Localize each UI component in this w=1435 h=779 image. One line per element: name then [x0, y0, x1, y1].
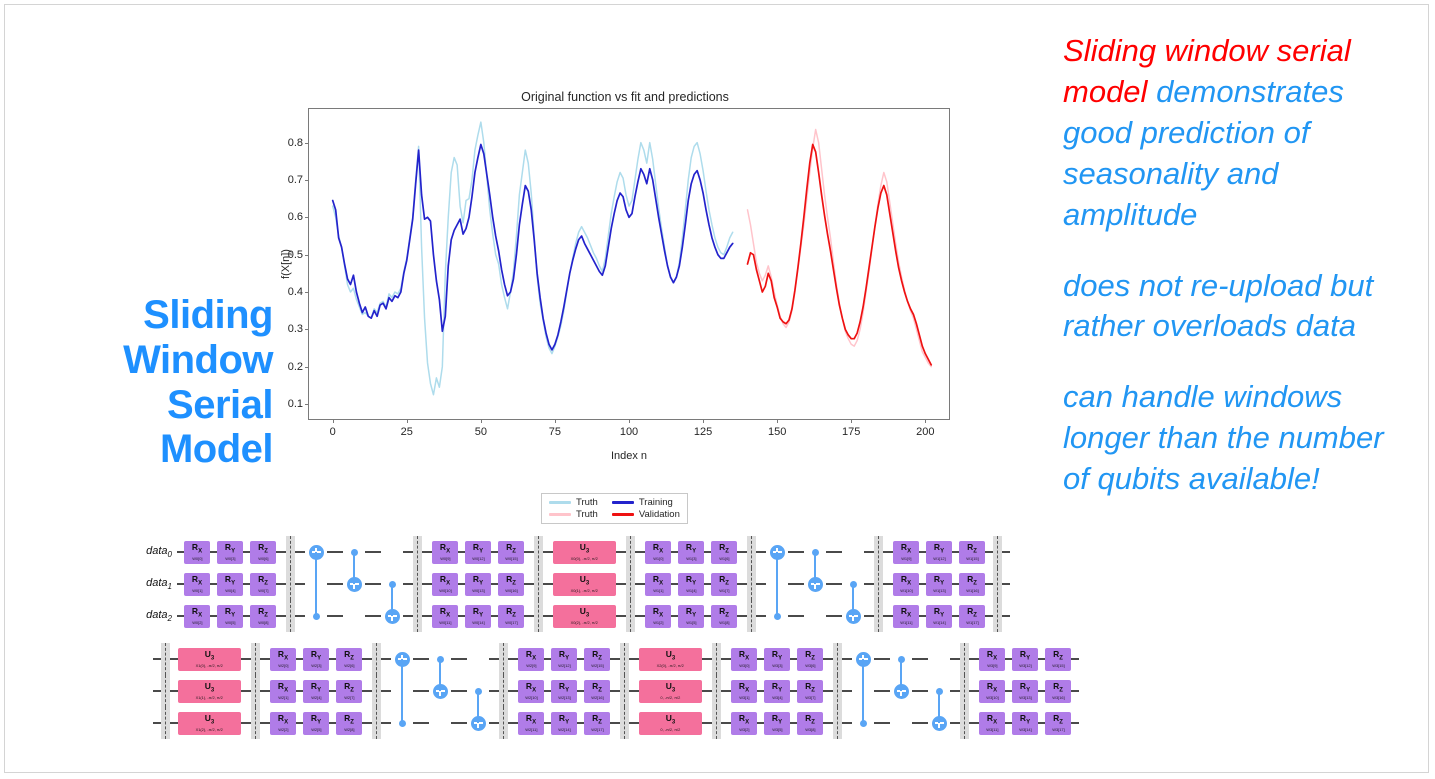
gate-rz[interactable]: RZW2[7] [336, 680, 362, 703]
wire-segment [823, 658, 833, 660]
cnot-link [315, 568, 317, 600]
wire-segment [864, 615, 874, 617]
gate-param: W1[13] [933, 589, 945, 593]
wire-segment [458, 615, 465, 617]
wire-segment [362, 658, 372, 660]
quantum-circuit-row-1: data0RXW0[0]RYW0[3]RZW0[6]RXW0[9]RYW0[12… [177, 536, 1010, 632]
gate-rx[interactable]: RXW2[11] [518, 712, 544, 735]
gate-label: RY [1020, 650, 1030, 662]
gate-rz[interactable]: RZW2[17] [584, 712, 610, 735]
gate-rx[interactable]: RXW2[10] [518, 680, 544, 703]
gate-param: W1[16] [966, 589, 978, 593]
gate-label: RY [473, 543, 483, 555]
wire-segment [381, 658, 391, 660]
gate-label: RX [526, 714, 536, 726]
gate-param: W1[11] [900, 621, 912, 625]
gate-rz[interactable]: RZW1[6] [711, 541, 737, 564]
chart: Original function vs fit and predictions… [255, 90, 995, 490]
gate-label: RX [739, 682, 749, 694]
wire-segment [757, 722, 764, 724]
gate-label: RX [526, 682, 536, 694]
gate-rz[interactable]: RZW3[16] [1045, 680, 1071, 703]
wire-segment [635, 615, 645, 617]
gate-label: RX [739, 714, 749, 726]
cnot-link [938, 707, 940, 723]
wire-segment [1002, 615, 1010, 617]
gate-rx[interactable]: RXW0[10] [432, 573, 458, 596]
gate-rx[interactable]: RXW1[0] [645, 541, 671, 564]
barrier [534, 568, 543, 600]
wire-segment [508, 658, 518, 660]
gate-param: W2[17] [591, 728, 603, 732]
gate-rz[interactable]: RZW2[15] [584, 648, 610, 671]
wire-segment [883, 615, 893, 617]
gate-label: RZ [592, 714, 602, 726]
gate-label: RY [934, 575, 944, 587]
barrier [993, 536, 1002, 568]
barrier [833, 707, 842, 739]
gate-rz[interactable]: RZW1[16] [959, 573, 985, 596]
cnot-column [391, 675, 413, 707]
gate-rx[interactable]: RXW1[2] [645, 605, 671, 628]
gate-label: RZ [506, 607, 516, 619]
wire-segment [610, 658, 620, 660]
gate-rz[interactable]: RZW0[7] [250, 573, 276, 596]
wire-segment [296, 658, 303, 660]
title-line-3: Serial [23, 383, 273, 428]
gate-param: W3[5] [772, 728, 782, 732]
gate-label: RY [559, 650, 569, 662]
gate-param: W0[9] [440, 557, 450, 561]
legend-item: Training [612, 497, 680, 508]
cnot-link [900, 675, 902, 691]
gate-label: RY [772, 714, 782, 726]
wire-segment [969, 658, 979, 660]
gate-rx[interactable]: RXW2[1] [270, 680, 296, 703]
gate-rz[interactable]: RZW0[6] [250, 541, 276, 564]
barrier [712, 675, 721, 707]
gate-param: W2[6] [344, 664, 354, 668]
plot-area: f(X[n]) 0.10.20.30.40.50.60.70.802550751… [308, 108, 950, 420]
chart-legend: TruthTrainingTruthValidation [541, 493, 688, 524]
barrier [712, 643, 721, 675]
gate-label: RY [686, 543, 696, 555]
gate-ry[interactable]: RYW2[13] [551, 680, 577, 703]
gate-label: RX [192, 575, 202, 587]
wire-segment [524, 615, 534, 617]
gate-param: 0, -π/2, π/2 [661, 728, 681, 732]
gate-rz[interactable]: RZW2[6] [336, 648, 362, 671]
y-tick-label: 0.8 [288, 137, 303, 149]
cnot-link [776, 600, 778, 616]
wire-label: data1 [146, 577, 172, 591]
wire-segment [544, 722, 551, 724]
gate-rz[interactable]: RZW3[17] [1045, 712, 1071, 735]
wire-segment [544, 690, 551, 692]
cnot-column [343, 568, 365, 600]
wire-segment [543, 615, 553, 617]
wire-segment [296, 690, 303, 692]
gate-label: U3 [666, 650, 675, 662]
gate-label: RY [559, 714, 569, 726]
wire-segment [702, 722, 712, 724]
wire-segment [1005, 658, 1012, 660]
gate-param: W0[1] [192, 589, 202, 593]
gate-param: W2[4] [311, 696, 321, 700]
gate-param: W1[10] [900, 589, 912, 593]
cnot-column [391, 643, 413, 675]
wire-segment [491, 615, 498, 617]
barrier [874, 568, 883, 600]
wire-segment [842, 690, 852, 692]
gate-rz[interactable]: RZW0[15] [498, 541, 524, 564]
y-tick-label: 0.2 [288, 361, 303, 373]
wire-segment [524, 583, 534, 585]
wire-segment [170, 658, 178, 660]
gate-rz[interactable]: RZW3[8] [797, 712, 823, 735]
gate-ry[interactable]: RYW0[14] [465, 605, 491, 628]
x-tick-mark [629, 419, 630, 423]
page-title: Sliding Window Serial Model [23, 293, 273, 472]
cnot-link [391, 600, 393, 616]
wire-segment [451, 722, 467, 724]
barrier [534, 536, 543, 568]
gate-u3[interactable]: U3X1(1), -π/2, π/2 [178, 680, 241, 703]
gate-rz[interactable]: RZW2[8] [336, 712, 362, 735]
barrier [747, 600, 756, 632]
gate-label: RY [311, 714, 321, 726]
gate-param: W0[4] [225, 589, 235, 593]
y-tick-mark [305, 217, 309, 218]
gate-rz[interactable]: RZW3[6] [797, 648, 823, 671]
gate-ry[interactable]: RYW3[13] [1012, 680, 1038, 703]
gate-rx[interactable]: RXW0[2] [184, 605, 210, 628]
x-tick-mark [407, 419, 408, 423]
gate-rx[interactable]: RXW0[1] [184, 573, 210, 596]
wire-segment [153, 722, 161, 724]
gate-param: X2(0), -π/2, π/2 [657, 664, 684, 668]
gate-rx[interactable]: RXW1[10] [893, 573, 919, 596]
gate-rx[interactable]: RXW2[0] [270, 648, 296, 671]
wire-segment [241, 722, 251, 724]
gate-label: RZ [967, 543, 977, 555]
barrier [960, 643, 969, 675]
barrier [960, 675, 969, 707]
gate-ry[interactable]: RYW1[14] [926, 605, 952, 628]
gate-param: W3[0] [739, 664, 749, 668]
gate-ry[interactable]: RYW0[4] [217, 573, 243, 596]
cnot-column [804, 536, 826, 568]
wire-segment [912, 690, 928, 692]
title-line-1: Sliding [23, 293, 273, 338]
x-tick-label: 100 [620, 426, 638, 438]
gate-label: RY [311, 650, 321, 662]
wire-segment [243, 615, 250, 617]
cnot-link [862, 659, 864, 675]
wire-segment [702, 690, 712, 692]
annotation-paragraph-2: does not re-upload but rather overloads … [1063, 266, 1403, 348]
gate-ry[interactable]: RYW3[4] [764, 680, 790, 703]
wire-segment [788, 615, 804, 617]
legend-item: Truth [549, 509, 598, 520]
gate-rz[interactable]: RZW1[8] [711, 605, 737, 628]
gate-rx[interactable]: RXW2[9] [518, 648, 544, 671]
x-tick-mark [925, 419, 926, 423]
wire-segment [985, 583, 993, 585]
gate-param: W2[11] [525, 728, 537, 732]
wire-segment [790, 690, 797, 692]
wire-segment [1071, 722, 1079, 724]
cnot-column [890, 675, 912, 707]
gate-ry[interactable]: RYW0[3] [217, 541, 243, 564]
y-tick-label: 0.7 [288, 174, 303, 186]
gate-rx[interactable]: RXW0[11] [432, 605, 458, 628]
wire-segment [721, 690, 731, 692]
wire-segment [635, 551, 645, 553]
barrier [620, 675, 629, 707]
wire-segment [276, 583, 286, 585]
gate-rx[interactable]: RXW1[1] [645, 573, 671, 596]
gate-param: W0[2] [192, 621, 202, 625]
gate-rz[interactable]: RZW0[16] [498, 573, 524, 596]
gate-label: RX [987, 650, 997, 662]
cnot-column [381, 536, 403, 568]
legend-swatch [549, 513, 571, 515]
wire-segment [950, 722, 960, 724]
gate-label: RZ [258, 543, 268, 555]
wire-segment [210, 615, 217, 617]
gate-param: W0[7] [258, 589, 268, 593]
gate-label: RX [278, 714, 288, 726]
legend-label: Truth [576, 509, 598, 520]
gate-label: RX [278, 682, 288, 694]
gate-param: W3[14] [1019, 728, 1031, 732]
gate-label: U3 [205, 650, 214, 662]
gate-label: RY [473, 607, 483, 619]
gate-rx[interactable]: RXW3[1] [731, 680, 757, 703]
cnot-column [928, 675, 950, 707]
barrier [161, 707, 170, 739]
wire-segment [177, 615, 184, 617]
gate-label: RZ [719, 575, 729, 587]
gate-rx[interactable]: RXW3[9] [979, 648, 1005, 671]
gate-rx[interactable]: RXW1[9] [893, 541, 919, 564]
gate-label: RZ [506, 543, 516, 555]
wire-segment [874, 722, 890, 724]
gate-ry[interactable]: RYW1[3] [678, 541, 704, 564]
gate-u3[interactable]: U3X2(0), -π/2, π/2 [639, 648, 702, 671]
wire-segment [864, 583, 874, 585]
gate-param: W1[5] [686, 621, 696, 625]
gate-param: W3[10] [986, 696, 998, 700]
gate-rz[interactable]: RZW2[16] [584, 680, 610, 703]
gate-label: RY [1020, 714, 1030, 726]
gate-param: W3[8] [805, 728, 815, 732]
gate-ry[interactable]: RYW3[14] [1012, 712, 1038, 735]
gate-label: RX [653, 575, 663, 587]
wire-segment [823, 722, 833, 724]
gate-u3[interactable]: U3X1(2), -π/2, π/2 [178, 712, 241, 735]
wire-segment [826, 551, 842, 553]
legend-swatch [612, 513, 634, 515]
wire-segment [327, 583, 343, 585]
gate-ry[interactable]: RYW0[12] [465, 541, 491, 564]
gate-rz[interactable]: RZW0[8] [250, 605, 276, 628]
gate-ry[interactable]: RYW1[5] [678, 605, 704, 628]
wire-segment [671, 615, 678, 617]
wire-segment [790, 722, 797, 724]
y-tick-label: 0.6 [288, 211, 303, 223]
qubit-wire: data0RXW0[0]RYW0[3]RZW0[6]RXW0[9]RYW0[12… [177, 536, 1010, 568]
gate-ry[interactable]: RYW3[3] [764, 648, 790, 671]
barrier [372, 643, 381, 675]
cnot-column [467, 643, 489, 675]
wire-segment [952, 615, 959, 617]
wire-segment [671, 551, 678, 553]
gate-ry[interactable]: RYW1[12] [926, 541, 952, 564]
wire-segment [629, 658, 639, 660]
gate-ry[interactable]: RYW2[5] [303, 712, 329, 735]
gate-param: W1[1] [653, 589, 663, 593]
barrier [833, 643, 842, 675]
barrier [874, 536, 883, 568]
title-line-2: Window [23, 338, 273, 383]
gate-rx[interactable]: RXW1[11] [893, 605, 919, 628]
qubit-wire: U3X1(2), -π/2, π/2RXW2[2]RYW2[5]RZW2[8]R… [153, 707, 1079, 739]
gate-rz[interactable]: RZW0[17] [498, 605, 524, 628]
x-tick-label: 150 [768, 426, 786, 438]
gate-label: RZ [805, 714, 815, 726]
cnot-column [842, 600, 864, 632]
barrier [161, 643, 170, 675]
wire-segment [451, 690, 467, 692]
gate-u3[interactable]: U3X1(0), -π/2, π/2 [178, 648, 241, 671]
wire-segment [327, 615, 343, 617]
wire-segment [381, 722, 391, 724]
gate-label: RY [772, 682, 782, 694]
gate-rx[interactable]: RXW3[0] [731, 648, 757, 671]
gate-rz[interactable]: RZW3[7] [797, 680, 823, 703]
gate-rz[interactable]: RZW1[15] [959, 541, 985, 564]
legend-label: Truth [576, 497, 598, 508]
gate-ry[interactable]: RYW0[13] [465, 573, 491, 596]
gate-rz[interactable]: RZW1[17] [959, 605, 985, 628]
y-tick-mark [305, 404, 309, 405]
gate-ry[interactable]: RYW2[14] [551, 712, 577, 735]
wire-segment [422, 583, 432, 585]
gate-label: RZ [592, 650, 602, 662]
gate-param: W2[1] [278, 696, 288, 700]
gate-param: W2[9] [526, 664, 536, 668]
barrier [747, 568, 756, 600]
gate-ry[interactable]: RYW0[5] [217, 605, 243, 628]
wire-segment [721, 722, 731, 724]
gate-param: X0(1), -π/2, π/2 [571, 589, 598, 593]
barrier [372, 675, 381, 707]
gate-label: RX [739, 650, 749, 662]
cnot-column [381, 600, 403, 632]
wire-segment [451, 658, 467, 660]
wire-segment [864, 551, 874, 553]
gate-ry[interactable]: RYW3[12] [1012, 648, 1038, 671]
gate-label: RX [901, 543, 911, 555]
cnot-column [842, 568, 864, 600]
wire-segment [210, 551, 217, 553]
wire-segment [842, 658, 852, 660]
gate-rx[interactable]: RXW3[2] [731, 712, 757, 735]
gate-label: RZ [805, 682, 815, 694]
gate-param: W3[7] [805, 696, 815, 700]
gate-rx[interactable]: RXW2[2] [270, 712, 296, 735]
gate-param: W2[7] [344, 696, 354, 700]
legend-item: Validation [612, 509, 680, 520]
wire-segment [365, 583, 381, 585]
gate-ry[interactable]: RYW3[5] [764, 712, 790, 735]
wire-segment [883, 551, 893, 553]
x-tick-mark [851, 419, 852, 423]
wire-segment [919, 583, 926, 585]
gate-ry[interactable]: RYW1[4] [678, 573, 704, 596]
gate-param: X0(0), -π/2, π/2 [571, 557, 598, 561]
gate-label: RY [225, 543, 235, 555]
cnot-link [776, 552, 778, 568]
wire-segment [616, 583, 626, 585]
gate-label: RZ [592, 682, 602, 694]
gate-label: RZ [967, 575, 977, 587]
gate-u3[interactable]: U3X0(1), -π/2, π/2 [553, 573, 616, 596]
wire-segment [912, 722, 928, 724]
gate-rx[interactable]: RXW0[0] [184, 541, 210, 564]
gate-u3[interactable]: U30, -π/2, π/2 [639, 680, 702, 703]
gate-label: RY [473, 575, 483, 587]
cnot-link [315, 600, 317, 616]
gate-u3[interactable]: U30, -π/2, π/2 [639, 712, 702, 735]
wire-segment [458, 583, 465, 585]
gate-param: W3[2] [739, 728, 749, 732]
wire-segment [276, 551, 286, 553]
x-tick-label: 0 [330, 426, 336, 438]
gate-rz[interactable]: RZW1[7] [711, 573, 737, 596]
gate-param: W1[2] [653, 621, 663, 625]
gate-param: W2[14] [558, 728, 570, 732]
wire-segment [329, 722, 336, 724]
wire-segment [610, 722, 620, 724]
wire-segment [295, 615, 305, 617]
gate-rx[interactable]: RXW0[9] [432, 541, 458, 564]
gate-param: 0, -π/2, π/2 [661, 696, 681, 700]
gate-rx[interactable]: RXW3[11] [979, 712, 1005, 735]
x-tick-label: 50 [475, 426, 487, 438]
gate-u3[interactable]: U3X0(2), -π/2, π/2 [553, 605, 616, 628]
gate-param: W0[17] [505, 621, 517, 625]
wire-segment [883, 583, 893, 585]
gate-u3[interactable]: U3X0(0), -π/2, π/2 [553, 541, 616, 564]
wire-segment [210, 583, 217, 585]
cnot-link [862, 707, 864, 723]
gate-ry[interactable]: RYW2[12] [551, 648, 577, 671]
gate-ry[interactable]: RYW2[3] [303, 648, 329, 671]
gate-param: W2[13] [558, 696, 570, 700]
gate-ry[interactable]: RYW2[4] [303, 680, 329, 703]
gate-param: W0[6] [258, 557, 268, 561]
gate-label: RZ [344, 650, 354, 662]
gate-rz[interactable]: RZW3[15] [1045, 648, 1071, 671]
qubit-wire: U3X1(0), -π/2, π/2RXW2[0]RYW2[3]RZW2[6]R… [153, 643, 1079, 675]
gate-ry[interactable]: RYW1[13] [926, 573, 952, 596]
gate-param: W1[0] [653, 557, 663, 561]
gate-rx[interactable]: RXW3[10] [979, 680, 1005, 703]
gate-param: W2[0] [278, 664, 288, 668]
